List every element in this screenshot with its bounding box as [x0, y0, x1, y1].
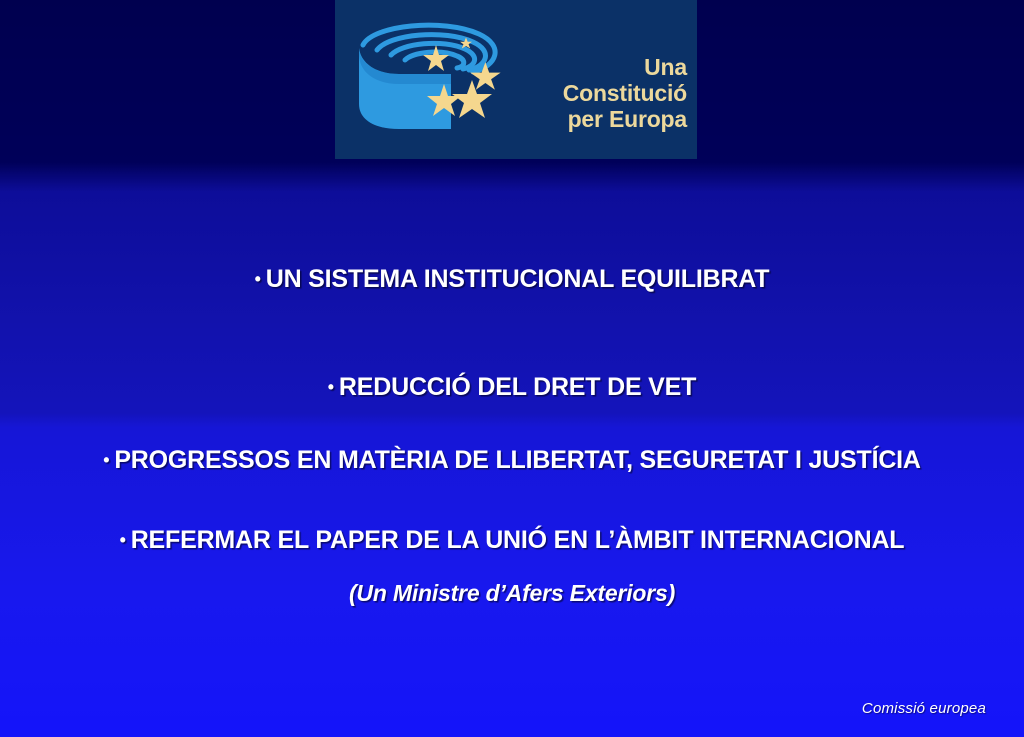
- slide-footer: Comissió europea: [862, 700, 986, 717]
- bullet-label-1: UN SISTEMA INSTITUCIONAL EQUILIBRAT: [266, 265, 770, 293]
- bullet-label-2: REDUCCIÓ DEL DRET DE VET: [339, 373, 696, 401]
- bullet-label-4: REFERMAR EL PAPER DE LA UNIÓ EN L’ÀMBIT …: [131, 526, 905, 554]
- bullet-item-1: •UN SISTEMA INSTITUCIONAL EQUILIBRAT: [0, 265, 1024, 294]
- bullet-item-4: •REFERMAR EL PAPER DE LA UNIÓ EN L’ÀMBIT…: [0, 526, 1024, 555]
- bullet-item-2: •REDUCCIÓ DEL DRET DE VET: [0, 373, 1024, 402]
- bullet-dot-icon: •: [255, 269, 261, 289]
- presentation-slide: Una Constitució per Europa •UN SISTEMA I…: [0, 0, 1024, 737]
- bullet-item-3: •PROGRESSOS EN MATÈRIA DE LLIBERTAT, SEG…: [0, 446, 1024, 475]
- slide-body: •UN SISTEMA INSTITUCIONAL EQUILIBRAT •RE…: [0, 0, 1024, 737]
- bullet-subtitle: (Un Ministre d’Afers Exteriors): [0, 580, 1024, 607]
- bullet-label-3: PROGRESSOS EN MATÈRIA DE LLIBERTAT, SEGU…: [114, 446, 920, 474]
- bullet-dot-icon: •: [120, 530, 126, 550]
- bullet-dot-icon: •: [103, 450, 109, 470]
- bullet-dot-icon: •: [328, 377, 334, 397]
